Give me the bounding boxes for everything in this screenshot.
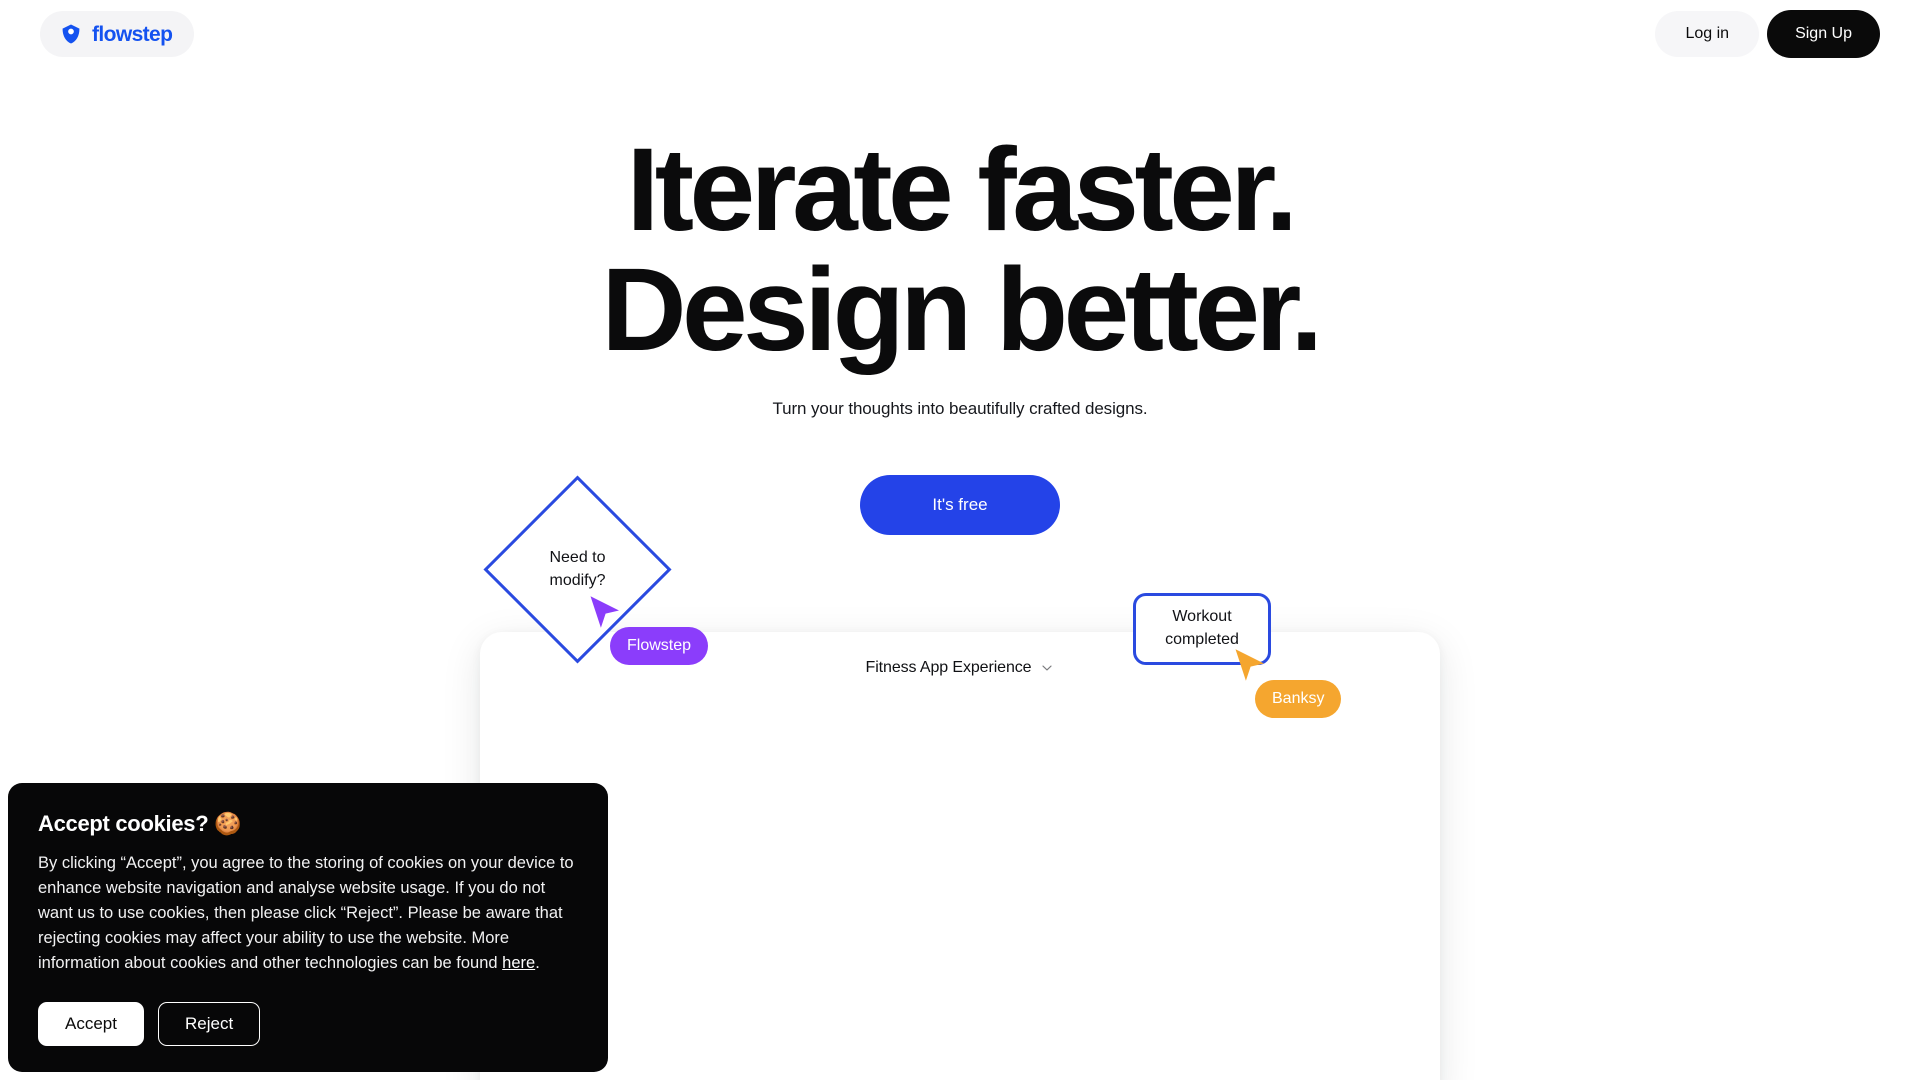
flow-node-state-line-1: Workout <box>1172 606 1231 629</box>
cookie-banner-actions: Accept Reject <box>38 1002 578 1046</box>
cookie-banner-title: Accept cookies? 🍪 <box>38 811 578 837</box>
its-free-button[interactable]: It's free <box>860 475 1060 535</box>
collab-cursor-flowstep: Flowstep <box>588 594 622 634</box>
page-title: Iterate faster. Design better. <box>0 130 1920 371</box>
accept-cookies-button[interactable]: Accept <box>38 1002 144 1046</box>
site-header: flowstep Log in Sign Up <box>0 0 1920 68</box>
hero-section: Iterate faster. Design better. Turn your… <box>0 130 1920 535</box>
cursor-pointer-icon <box>588 594 622 634</box>
collab-cursor-banksy: Banksy <box>1233 647 1267 687</box>
cookie-policy-link[interactable]: here <box>502 954 535 972</box>
reject-cookies-button[interactable]: Reject <box>158 1002 260 1046</box>
cookie-banner-body: By clicking “Accept”, you agree to the s… <box>38 851 578 976</box>
cookie-consent-banner: Accept cookies? 🍪 By clicking “Accept”, … <box>8 783 608 1072</box>
cursor-label-banksy: Banksy <box>1255 680 1341 718</box>
shield-logo-icon <box>60 23 82 45</box>
login-button[interactable]: Log in <box>1655 11 1759 57</box>
cookie-body-text: By clicking “Accept”, you agree to the s… <box>38 854 574 972</box>
cursor-pointer-icon <box>1233 647 1267 687</box>
headline-line-2: Design better. <box>0 250 1920 370</box>
headline-line-1: Iterate faster. <box>0 130 1920 250</box>
hero-subtitle: Turn your thoughts into beautifully craf… <box>0 399 1920 419</box>
signup-button[interactable]: Sign Up <box>1767 10 1880 58</box>
flow-node-state-line-2: completed <box>1165 629 1239 652</box>
chevron-down-icon[interactable] <box>1040 661 1054 675</box>
header-actions: Log in Sign Up <box>1655 10 1880 58</box>
canvas-title-label: Fitness App Experience <box>866 659 1032 677</box>
cookie-body-text-end: . <box>535 954 540 972</box>
cta-wrapper: It's free <box>0 475 1920 535</box>
cursor-label-flowstep: Flowstep <box>610 627 708 665</box>
logo[interactable]: flowstep <box>40 11 194 57</box>
logo-text: flowstep <box>92 24 172 45</box>
